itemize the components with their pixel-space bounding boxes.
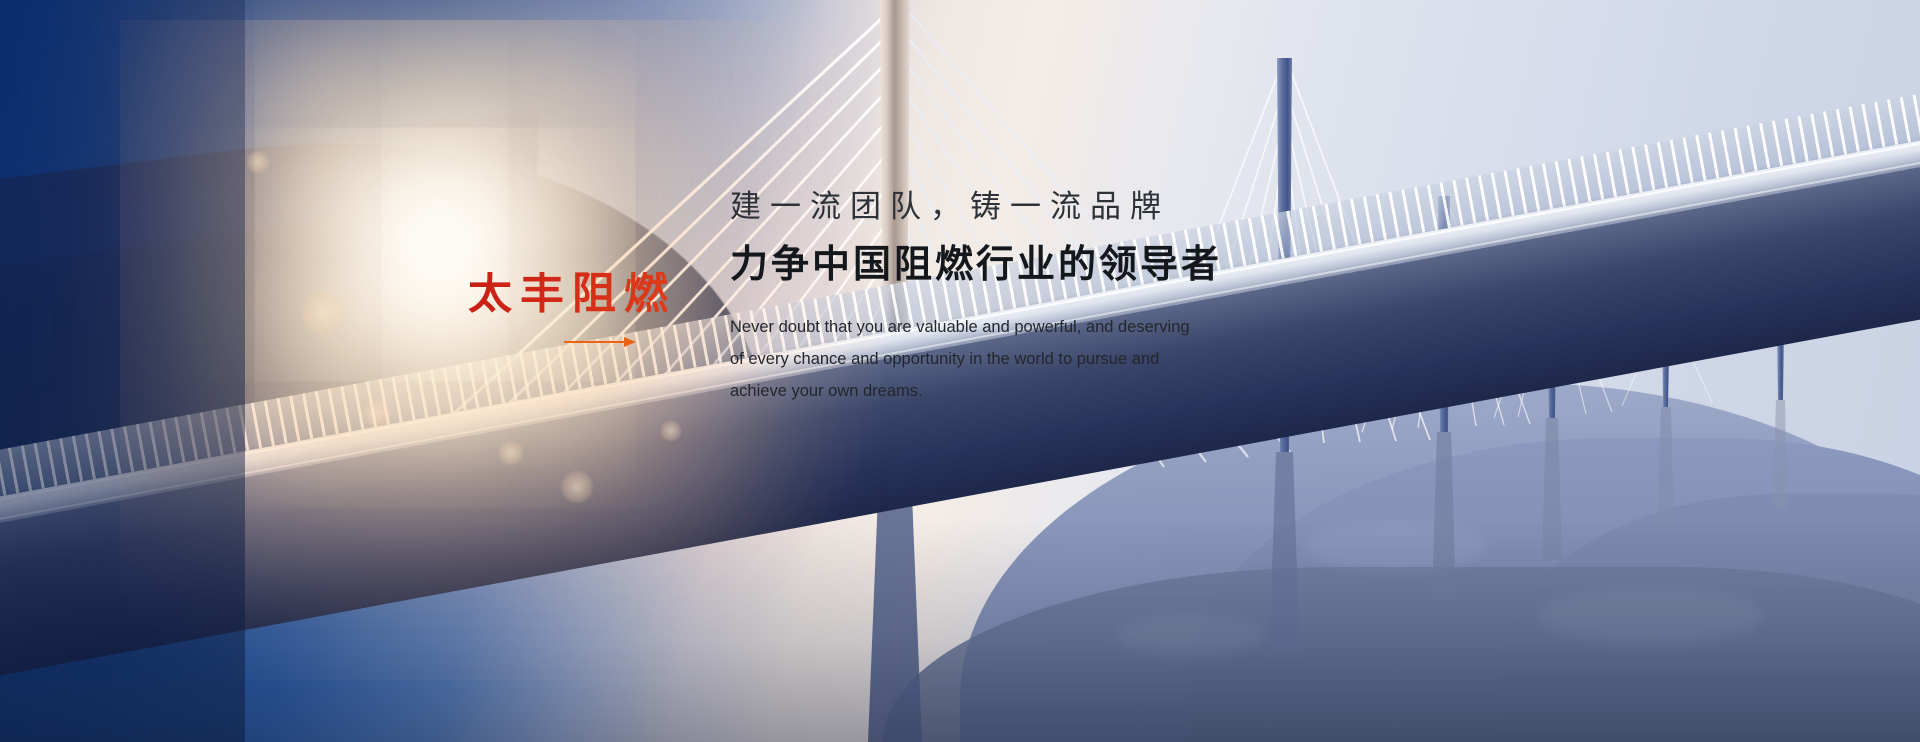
- headline-title: 力争中国阻燃行业的领导者: [730, 243, 1370, 289]
- description-line: of every chance and opportunity in the w…: [730, 343, 1200, 375]
- headline-subtitle: 建一流团队，铸一流品牌: [730, 188, 1370, 225]
- banner-content: 太丰阻燃 建一流团队，铸一流品牌 力争中国阻燃行业的领导者 Never doub…: [0, 0, 1920, 742]
- description-line: Never doubt that you are valuable and po…: [730, 311, 1200, 343]
- brand-logo-text: 太丰阻燃: [468, 272, 728, 316]
- description-line: achieve your own dreams.: [730, 375, 1200, 407]
- banner-copy: 建一流团队，铸一流品牌 力争中国阻燃行业的领导者 Never doubt tha…: [730, 188, 1370, 407]
- hero-banner: 太丰阻燃 建一流团队，铸一流品牌 力争中国阻燃行业的领导者 Never doub…: [0, 0, 1920, 742]
- brand-logo[interactable]: 太丰阻燃: [468, 272, 728, 348]
- description-paragraph: Never doubt that you are valuable and po…: [730, 311, 1200, 408]
- arrow-right-icon: [564, 336, 636, 348]
